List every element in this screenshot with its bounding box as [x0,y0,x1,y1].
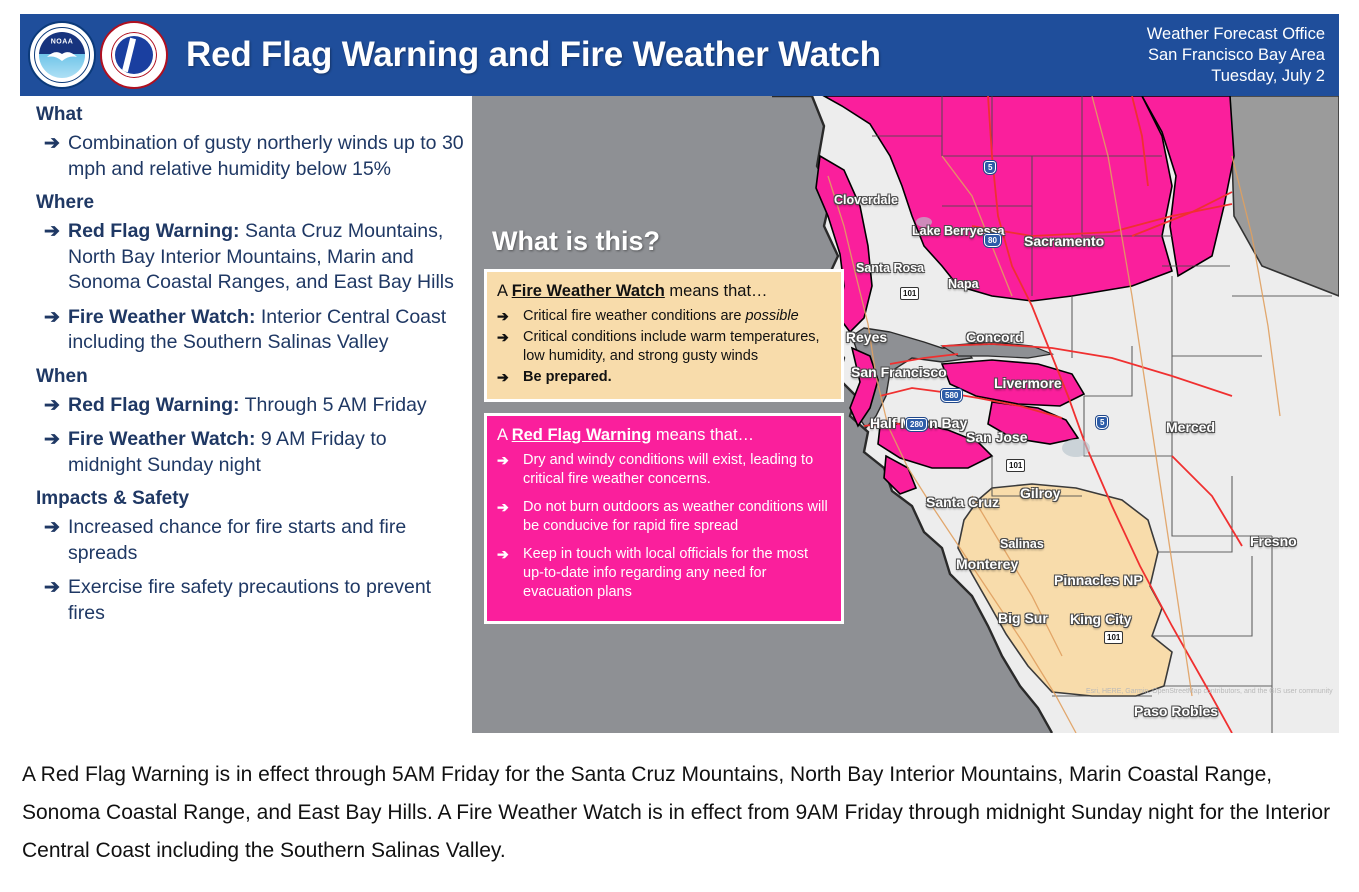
overlay-heading: What is this? [492,226,844,257]
arrow-icon: ➔ [32,393,68,418]
bullet-text: Red Flag Warning: Santa Cruz Mountains, … [68,219,464,296]
fww-bullet: ➔ Critical conditions include warm tempe… [497,328,831,366]
section-heading-what: What [36,104,464,126]
fww-bullet-text: Be prepared. [523,368,831,387]
rfw-box-heading: A Red Flag Warning means that… [497,424,831,446]
section-when: When ➔ Red Flag Warning: Through 5 AM Fr… [32,366,464,479]
bullet-item: ➔ Exercise fire safety precautions to pr… [32,575,464,626]
rfw-bullet: ➔ Keep in touch with local officials for… [497,545,831,602]
route-shield-us101: 101 [1104,631,1123,644]
summary-column: What ➔ Combination of gusty northerly wi… [32,104,464,744]
fww-head-term: Fire Weather Watch [512,282,665,300]
bullet-item: ➔ Fire Weather Watch: 9 AM Friday to mid… [32,427,464,478]
arrow-icon: ➔ [32,219,68,244]
noaa-label: NOAA [51,39,74,46]
bullet-lead: Red Flag Warning: [68,220,240,242]
rfw-bullet: ➔ Dry and windy conditions will exist, l… [497,451,831,489]
route-shield-i80: 80 [984,234,1001,247]
fww-head-pre: A [497,282,512,300]
bullet-item: ➔ Increased chance for fire starts and f… [32,515,464,566]
bullet-lead: Red Flag Warning: [68,394,240,416]
route-shield-i580: 580 [941,389,962,402]
caption-text: A Red Flag Warning is in effect through … [22,756,1342,870]
rfw-head-post: means that… [651,426,754,444]
bullet-text: Red Flag Warning: Through 5 AM Friday [68,393,464,419]
fww-bullet-body: Critical fire weather conditions are [523,308,745,324]
fire-weather-watch-info-box: A Fire Weather Watch means that… ➔ Criti… [484,269,844,402]
section-what: What ➔ Combination of gusty northerly wi… [32,104,464,182]
bullet-item: ➔ Fire Weather Watch: Interior Central C… [32,305,464,356]
red-flag-warning-info-box: A Red Flag Warning means that… ➔ Dry and… [484,413,844,624]
arrow-icon: ➔ [32,427,68,452]
bullet-lead: Fire Weather Watch: [68,428,255,450]
section-heading-where: Where [36,192,464,214]
rfw-head-term: Red Flag Warning [512,426,652,444]
bullet-text: Combination of gusty northerly winds up … [68,131,464,182]
nws-seal-inner [115,36,153,74]
arrow-icon: ➔ [32,131,68,156]
route-shield-us101: 101 [900,287,919,300]
rfw-bullet: ➔ Do not burn outdoors as weather condit… [497,498,831,536]
header-office-info: Weather Forecast Office San Francisco Ba… [1147,24,1339,87]
header-banner: NOAA Red Flag Warning and Fire Weather W… [20,14,1339,96]
map-attribution: Esri, HERE, Garmin, OpenStreetMap contri… [1086,688,1333,695]
bullet-lead: Fire Weather Watch: [68,306,255,328]
arrow-icon: ➔ [497,545,523,564]
rfw-bullet-text: Keep in touch with local officials for t… [523,545,831,602]
rfw-bullet-text: Do not burn outdoors as weather conditio… [523,498,831,536]
fww-head-post: means that… [665,282,768,300]
bullet-body: Through 5 AM Friday [240,394,427,416]
arrow-icon: ➔ [497,328,523,347]
bullet-item: ➔ Red Flag Warning: Santa Cruz Mountains… [32,219,464,296]
route-shield-i5-south: 5 [1096,416,1108,429]
rfw-bullet-text: Dry and windy conditions will exist, lea… [523,451,831,489]
arrow-icon: ➔ [497,368,523,387]
arrow-icon: ➔ [32,575,68,600]
arrow-icon: ➔ [497,451,523,470]
national-weather-service-seal-icon [100,21,168,89]
noaa-seal-icon: NOAA [28,21,96,89]
bullet-item: ➔ Red Flag Warning: Through 5 AM Friday [32,393,464,419]
bullet-text: Fire Weather Watch: Interior Central Coa… [68,305,464,356]
route-shield-i280: 280 [906,418,927,431]
fww-bullet: ➔ Be prepared. [497,368,831,387]
fww-bullet-text: Critical fire weather conditions are pos… [523,307,831,326]
route-shield-i5: 5 [984,161,996,174]
route-shield-us101: 101 [1006,459,1025,472]
fww-box-heading: A Fire Weather Watch means that… [497,280,831,302]
page-title: Red Flag Warning and Fire Weather Watch [186,35,1147,75]
section-impacts-safety: Impacts & Safety ➔ Increased chance for … [32,488,464,626]
section-heading-impacts: Impacts & Safety [36,488,464,510]
bullet-text: Exercise fire safety precautions to prev… [68,575,464,626]
fww-bullet-emph: Be prepared. [523,369,612,385]
fww-bullet-emph: possible [745,308,798,324]
arrow-icon: ➔ [32,305,68,330]
bullet-item: ➔ Combination of gusty northerly winds u… [32,131,464,182]
bullet-text: Increased chance for fire starts and fir… [68,515,464,566]
arrow-icon: ➔ [497,498,523,517]
issue-date: Tuesday, July 2 [1147,66,1325,87]
fww-bullet-text: Critical conditions include warm tempera… [523,328,831,366]
section-where: Where ➔ Red Flag Warning: Santa Cruz Mou… [32,192,464,356]
office-name-line1: Weather Forecast Office [1147,24,1325,45]
section-heading-when: When [36,366,464,388]
arrow-icon: ➔ [32,515,68,540]
arrow-icon: ➔ [497,307,523,326]
fww-bullet: ➔ Critical fire weather conditions are p… [497,307,831,326]
what-is-this-overlay: What is this? A Fire Weather Watch means… [484,216,844,726]
bullet-text: Fire Weather Watch: 9 AM Friday to midni… [68,427,464,478]
office-name-line2: San Francisco Bay Area [1147,45,1325,66]
rfw-head-pre: A [497,426,512,444]
